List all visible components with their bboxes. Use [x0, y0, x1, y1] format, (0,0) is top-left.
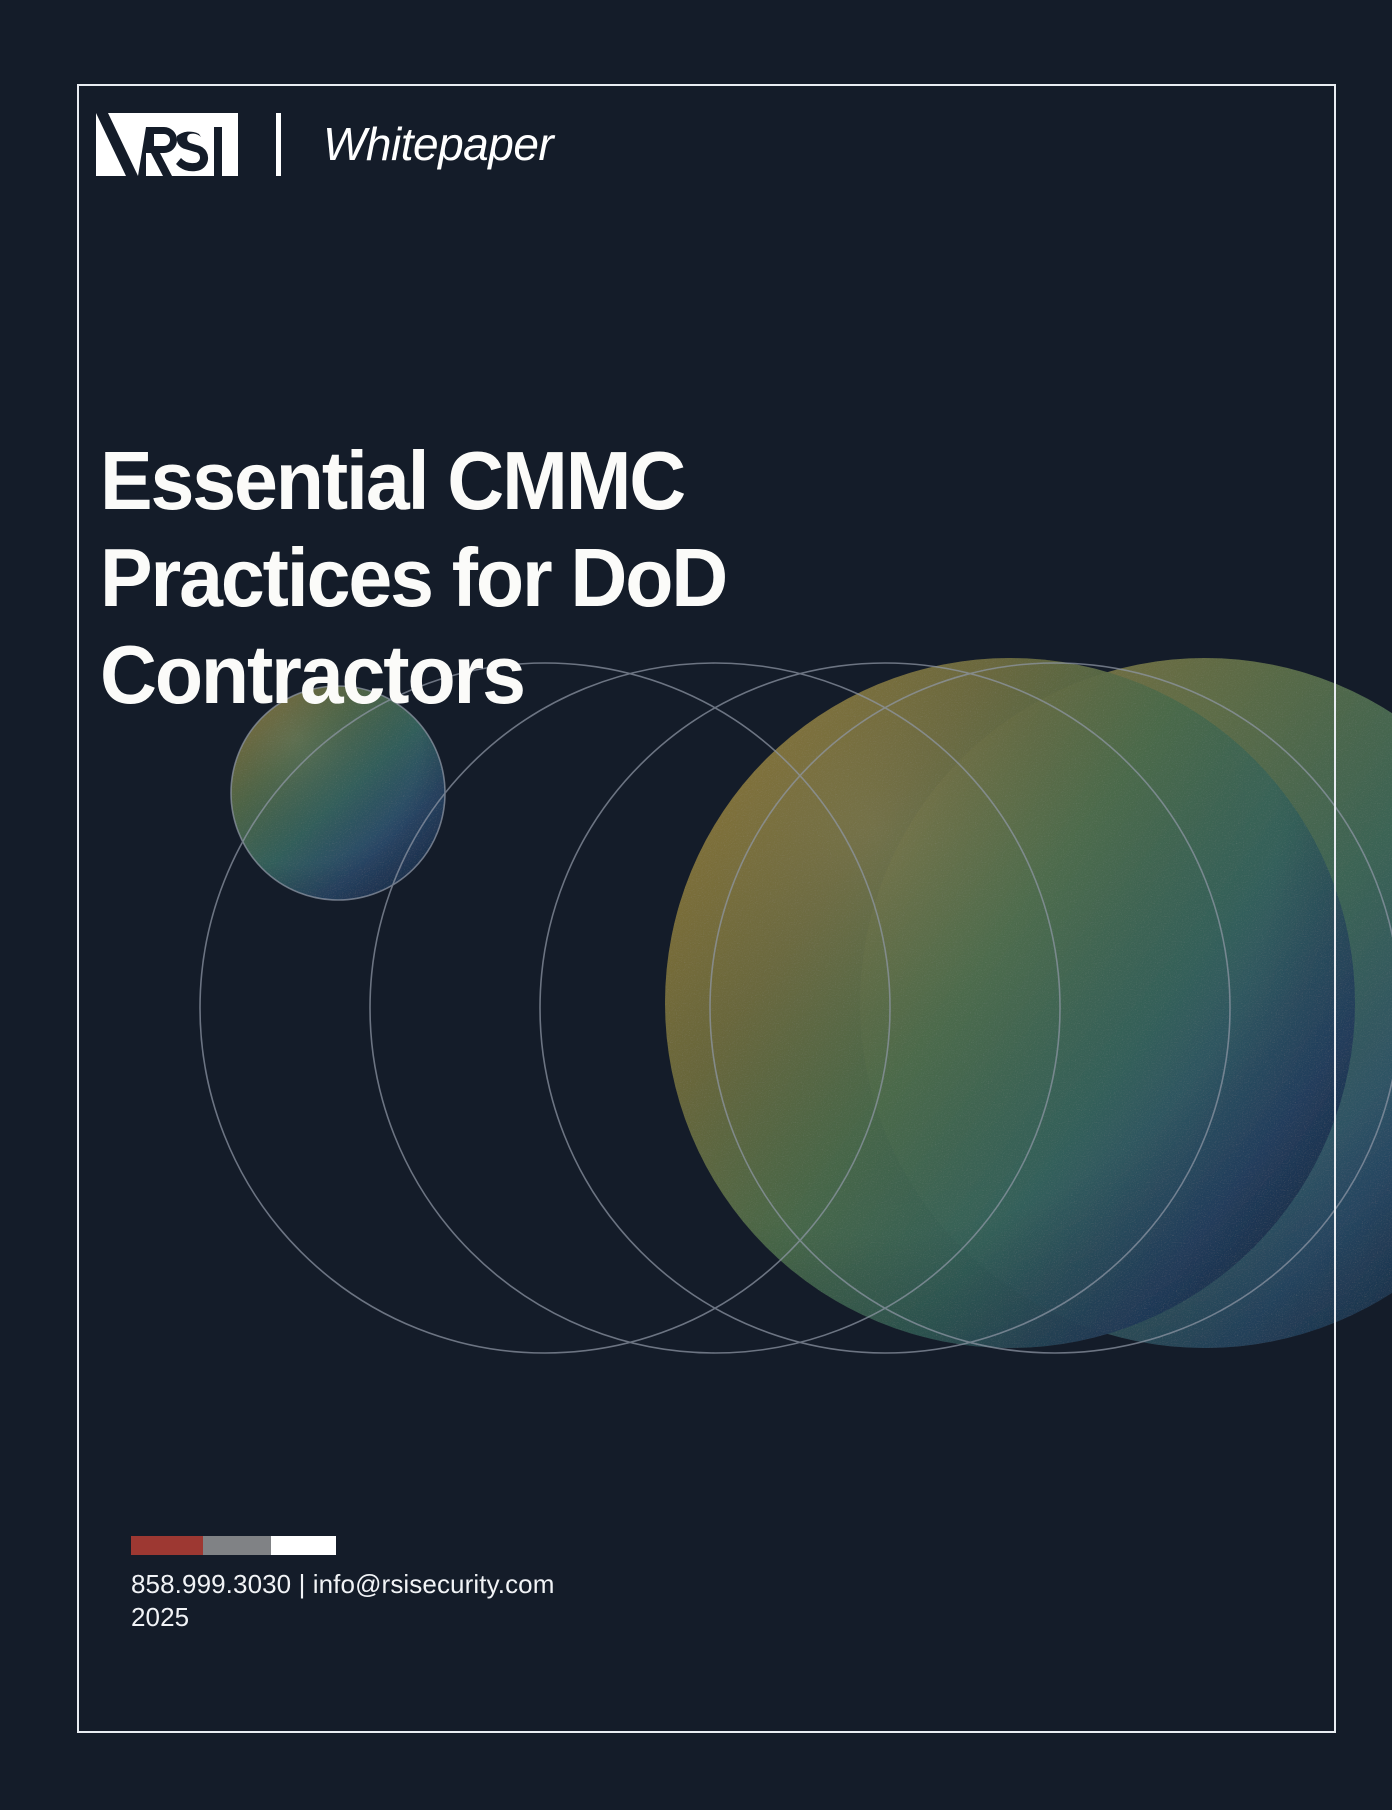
page-title: Essential CMMC Practices for DoD Contrac… [100, 432, 936, 723]
gradient-sphere-xlarge [860, 658, 1392, 1348]
vertical-divider-icon [276, 113, 281, 176]
outline-ring-1 [200, 663, 890, 1353]
gradient-sphere-large-shade [665, 658, 1355, 1348]
outline-ring-2 [370, 663, 1060, 1353]
outline-ring-4 [710, 663, 1392, 1353]
color-bar-segment-gray [203, 1536, 271, 1555]
outline-ring-3 [540, 663, 1230, 1353]
cover-header: Whitepaper [96, 112, 553, 176]
rsi-logo-icon [96, 113, 238, 176]
header-label: Whitepaper [323, 121, 553, 167]
page-border-frame [77, 84, 1336, 1733]
brand-color-bar [131, 1536, 336, 1555]
gradient-sphere-large [665, 658, 1355, 1348]
contact-info: 858.999.3030 | info@rsisecurity.com [131, 1568, 751, 1601]
color-bar-segment-red [131, 1536, 203, 1555]
gradient-sphere-xlarge-shade [860, 658, 1392, 1348]
color-bar-segment-white [271, 1536, 336, 1555]
cover-footer: 858.999.3030 | info@rsisecurity.com 2025 [131, 1536, 751, 1634]
publication-year: 2025 [131, 1601, 751, 1634]
whitepaper-cover-page: Whitepaper Essential CMMC Practices for … [0, 0, 1392, 1810]
